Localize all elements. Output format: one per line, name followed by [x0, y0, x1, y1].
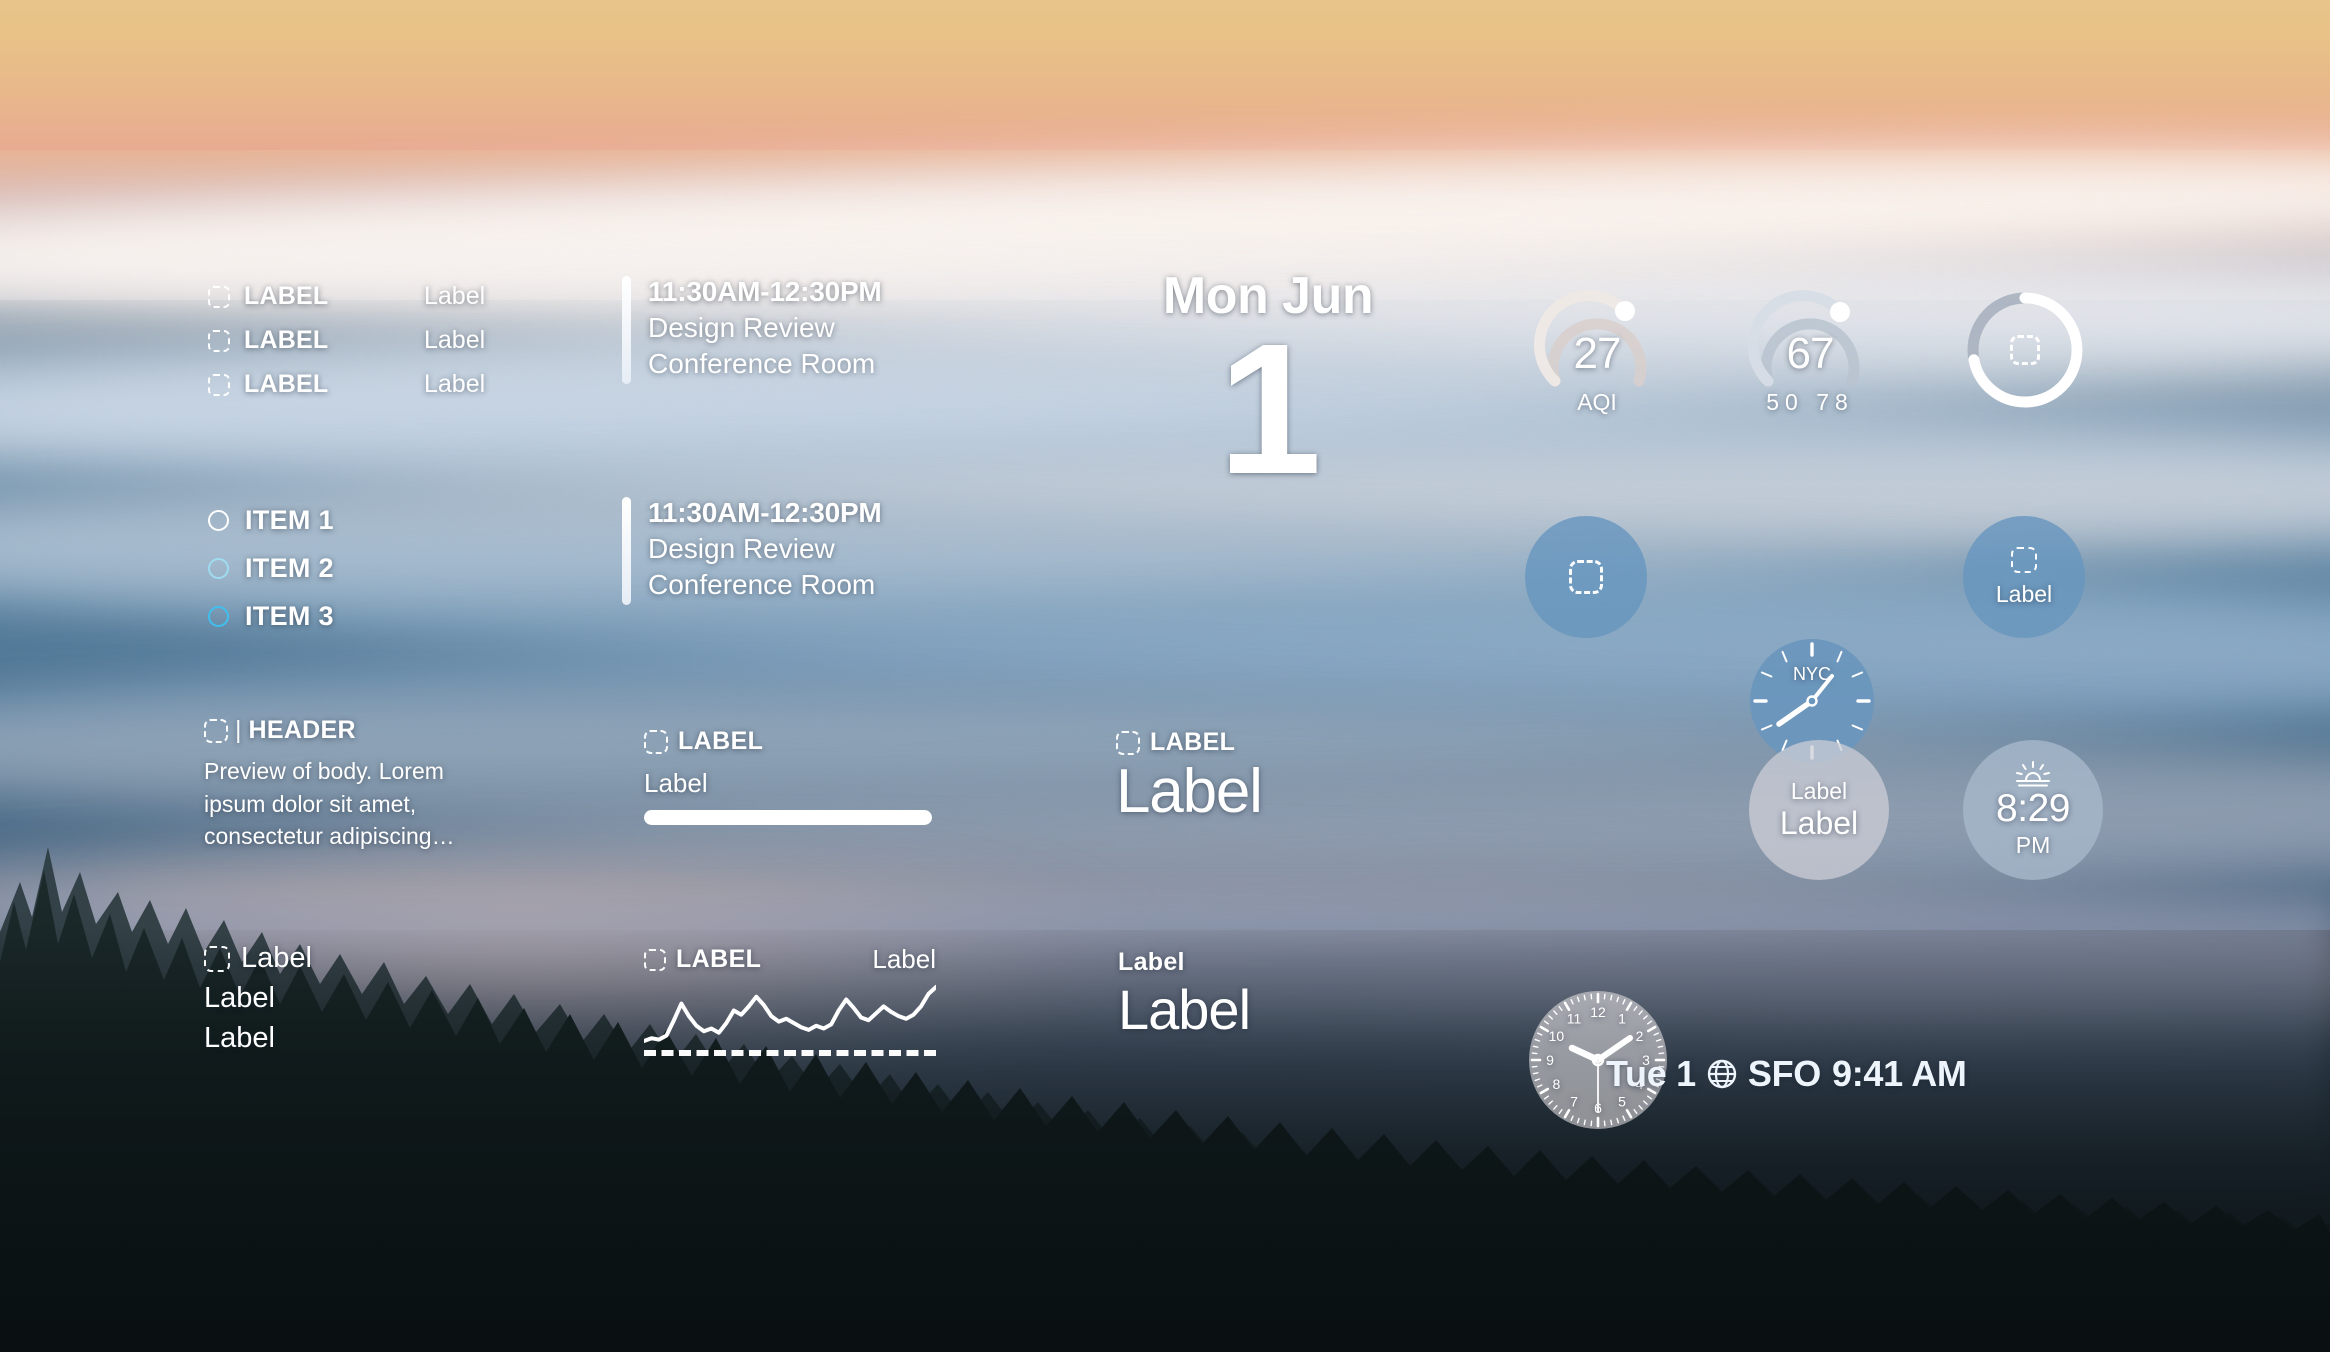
list-item[interactable]: ITEM 2 [208, 553, 334, 584]
dashed-square-placeholder-icon [2010, 335, 2040, 365]
bottom-value-stack-widget[interactable]: Label Label [1118, 948, 1250, 1041]
event-time: 11:30AM-12:30PM [648, 497, 882, 529]
status-time: 9:41 AM [1832, 1053, 1967, 1095]
list-item-label: ITEM 2 [245, 553, 334, 584]
list-item-key: LABEL [244, 370, 424, 399]
dashed-square-placeholder-icon [204, 719, 228, 743]
list-item[interactable]: LABEL Label [208, 370, 485, 399]
dashed-square-placeholder-icon [208, 330, 244, 352]
value-title: Label [1118, 948, 1250, 977]
status-day: Tue 1 [1606, 1053, 1696, 1095]
chart-baseline [644, 1050, 936, 1056]
list-item-key: LABEL [244, 326, 424, 355]
sunset-time: 8:29 [1996, 788, 2070, 831]
stack-title: LABEL [1150, 728, 1235, 757]
list-item[interactable]: ITEM 1 [208, 505, 334, 536]
separator: | [235, 716, 242, 745]
dashed-square-placeholder-icon [1116, 731, 1140, 755]
dashed-square-placeholder-icon [644, 949, 666, 971]
date-widget[interactable]: Mon Jun 1 [1108, 270, 1428, 492]
value-big: Label [1118, 979, 1250, 1041]
progress-bar-fill [644, 810, 932, 825]
event-title: Design Review [648, 533, 882, 565]
item-list-widget[interactable]: ITEM 1 ITEM 2 ITEM 3 [208, 505, 334, 632]
svg-text:5: 5 [1618, 1094, 1626, 1110]
dashed-square-placeholder-icon [208, 286, 244, 308]
gauge-value: 67 [1738, 329, 1882, 379]
progress-subtitle: Label [644, 768, 932, 799]
dashed-square-placeholder-icon [204, 946, 230, 972]
list-item-value: Label [424, 370, 485, 399]
list-item-label: ITEM 1 [245, 505, 334, 536]
stack-line: Label [204, 1022, 312, 1055]
svg-text:2: 2 [1636, 1028, 1644, 1044]
svg-text:10: 10 [1549, 1028, 1565, 1044]
label-circle-widget[interactable]: Label [1963, 516, 2085, 638]
svg-text:7: 7 [1570, 1094, 1578, 1110]
sunset-meridiem: PM [2016, 832, 2051, 859]
event-location: Conference Room [648, 569, 882, 601]
sunset-icon [2013, 761, 2053, 787]
notification-widget[interactable]: | HEADER Preview of body. Lorem ipsum do… [204, 716, 466, 853]
list-item-value: Label [424, 282, 485, 311]
dashed-square-placeholder-icon [208, 374, 244, 396]
aqi-gauge-widget[interactable]: 27 AQI [1525, 285, 1669, 416]
gauge-caption: AQI [1525, 389, 1669, 416]
event-location: Conference Room [648, 348, 882, 380]
notification-header: HEADER [249, 716, 356, 745]
label-list-widget[interactable]: LABEL Label LABEL Label LABEL Label [208, 282, 485, 399]
circle-label: Label [1996, 581, 2052, 607]
stack-line: Label [241, 942, 312, 975]
chart-sparkline [644, 983, 936, 1045]
svg-text:9: 9 [1546, 1052, 1554, 1068]
list-item[interactable]: LABEL Label [208, 282, 485, 311]
status-airport: SFO [1748, 1053, 1821, 1095]
gauge-value: 27 [1525, 329, 1669, 379]
svg-text:12: 12 [1590, 1004, 1606, 1020]
calendar-event-widget[interactable]: 11:30AM-12:30PM Design Review Conference… [622, 276, 882, 384]
label-stack-widget[interactable]: LABEL Label [1116, 728, 1262, 826]
event-time: 11:30AM-12:30PM [648, 276, 882, 308]
radio-circle-icon[interactable] [208, 558, 229, 579]
event-title: Design Review [648, 312, 882, 344]
circle-label-small: Label [1791, 778, 1847, 804]
list-item-key: LABEL [244, 282, 424, 311]
range-gauge-widget[interactable]: 67 50 78 [1738, 285, 1882, 416]
ring-progress-widget[interactable] [1963, 288, 2087, 412]
gauge-range-caption: 50 78 [1738, 389, 1882, 416]
list-item[interactable]: LABEL Label [208, 326, 485, 355]
event-accent-bar [622, 497, 631, 605]
dashed-square-placeholder-icon [1569, 560, 1603, 594]
stack-value: Label [1116, 759, 1262, 826]
ring-center-icon [1963, 288, 2087, 412]
globe-icon [1707, 1059, 1737, 1089]
list-item-value: Label [424, 326, 485, 355]
radio-circle-icon[interactable] [208, 510, 229, 531]
svg-text:8: 8 [1553, 1076, 1561, 1092]
radio-circle-icon[interactable] [208, 606, 229, 627]
sunset-time-widget[interactable]: 8:29 PM [1963, 740, 2103, 880]
progress-title: LABEL [678, 727, 763, 756]
circle-label-large: Label [1780, 805, 1858, 842]
date-day-number: 1 [1108, 328, 1428, 492]
notification-body: Preview of body. Lorem ipsum dolor sit a… [204, 755, 466, 853]
svg-text:11: 11 [1567, 1010, 1582, 1026]
list-item[interactable]: ITEM 3 [208, 601, 334, 632]
chart-title: LABEL [676, 945, 761, 974]
chart-widget[interactable]: LABEL Label [644, 944, 936, 1056]
calendar-event-widget[interactable]: 11:30AM-12:30PM Design Review Conference… [622, 497, 882, 605]
event-accent-bar [622, 276, 631, 384]
placeholder-circle-widget[interactable] [1525, 516, 1647, 638]
progress-widget[interactable]: LABEL Label [644, 727, 932, 825]
stack-line: Label [204, 982, 312, 1015]
status-bar[interactable]: Tue 1 SFO 9:41 AM [1606, 1053, 1967, 1095]
clock-city-label: NYC [1793, 664, 1831, 684]
progress-bar[interactable] [644, 810, 932, 825]
double-label-circle-widget[interactable]: Label Label [1749, 740, 1889, 880]
list-item-label: ITEM 3 [245, 601, 334, 632]
dashed-square-placeholder-icon [2011, 547, 2037, 573]
svg-text:1: 1 [1618, 1010, 1626, 1026]
chart-value: Label [872, 944, 936, 975]
dashed-square-placeholder-icon [644, 730, 668, 754]
bottom-label-stack-widget[interactable]: Label Label Label [204, 942, 312, 1055]
